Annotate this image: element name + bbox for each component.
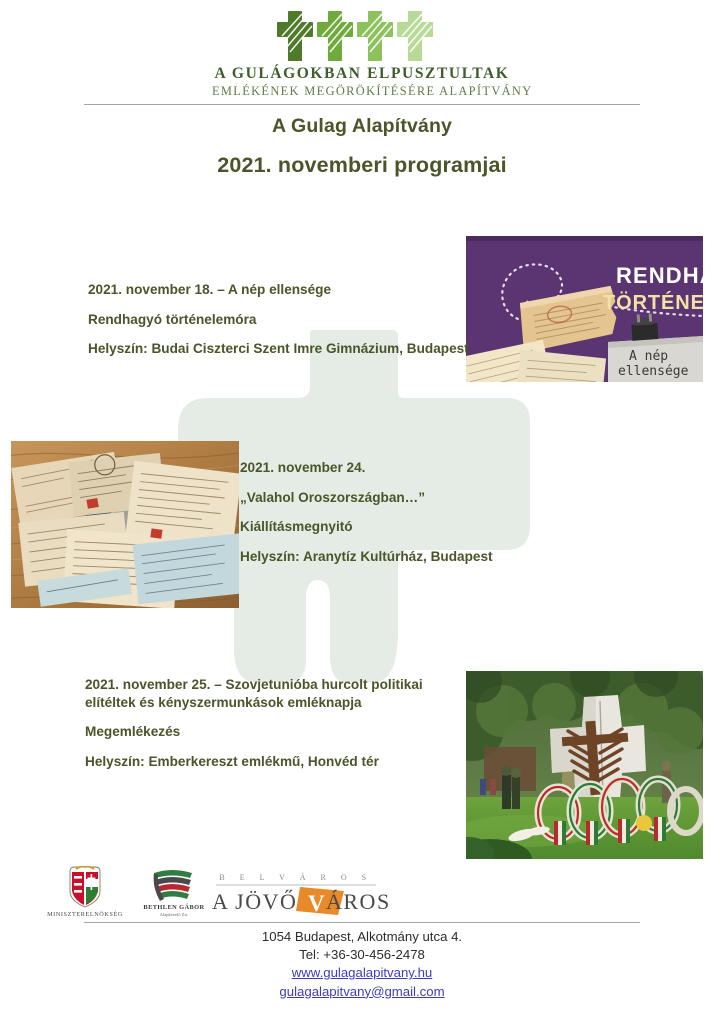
bethlen-gabor-caption: BETHLEN GÁBOR: [143, 903, 204, 911]
belvaros-caption-main: A JÖVŐ: [212, 889, 297, 914]
document-header: A GULÁGOKBAN ELPUSZTULTAK EMLÉKÉNEK MEGÖ…: [0, 0, 724, 104]
header-divider: [84, 104, 640, 105]
footer-website-link[interactable]: www.gulagalapitvany.hu: [292, 965, 433, 980]
event-3-program: Megemlékezés: [85, 723, 475, 741]
archival-letters-photo: [11, 441, 239, 608]
cross-figures-icon: [276, 8, 448, 64]
rendhagyo-tortenelemora-poster: A nép ellensége RENDHAGYÓ TÖRTÉNELEMÓRA: [466, 236, 703, 382]
event-1-venue: Helyszín: Budai Ciszterci Szent Imre Gim…: [88, 340, 470, 358]
event-2-program-title: „Valahol Oroszországban…”: [240, 489, 560, 507]
belvaros-a-jovo-varosa-logo: B E L V Á R O S A JÖVŐ V ÁROSA: [204, 869, 388, 915]
page-title: A Gulag Alapítvány: [0, 115, 724, 138]
footer-phone: Tel: +36-30-456-2478: [0, 946, 724, 964]
footer-address: 1054 Budapest, Alkotmány utca 4.: [0, 928, 724, 946]
miniszterelnokseg-caption: MINISZTERELNÖKSÉG: [47, 910, 123, 918]
footer-divider: [84, 922, 640, 923]
emberkereszt-memorial-photo: [466, 671, 703, 859]
svg-text:ellensége: ellensége: [618, 364, 689, 379]
document-page: A GULÁGOKBAN ELPUSZTULTAK EMLÉKÉNEK MEGÖ…: [0, 0, 724, 1024]
foundation-logo: A GULÁGOKBAN ELPUSZTULTAK EMLÉKÉNEK MEGÖ…: [212, 8, 512, 99]
svg-text:A nép: A nép: [629, 349, 668, 364]
event-2-venue: Helyszín: Aranytíz Kultúrház, Budapest: [240, 548, 560, 566]
event-2-date: 2021. november 24.: [240, 459, 560, 477]
event-block-2: 2021. november 24. „Valahol Oroszországb…: [240, 459, 560, 565]
page-subtitle: 2021. novemberi programjai: [0, 153, 724, 178]
event-block-1: 2021. november 18. – A nép ellensége Ren…: [88, 281, 470, 358]
svg-text:RENDHAGYÓ: RENDHAGYÓ: [616, 263, 703, 288]
event-1-program: Rendhagyó történelemóra: [88, 311, 470, 329]
footer-contact: 1054 Budapest, Alkotmány utca 4. Tel: +3…: [0, 928, 724, 1001]
svg-text:ÁROSA: ÁROSA: [326, 889, 388, 914]
org-name-line2: EMLÉKÉNEK MEGÖRÖKÍTÉSÉRE ALAPÍTVÁNY: [212, 84, 512, 99]
footer-email-link[interactable]: gulagalapitvany@gmail.com: [279, 984, 444, 999]
event-block-3: 2021. november 25. – Szovjetunióba hurco…: [85, 676, 475, 770]
footer-logos: MINISZTERELNÖKSÉG BETHLEN GÁBOR Alapkeze…: [0, 866, 724, 918]
belvaros-caption-top: B E L V Á R O S: [219, 872, 372, 882]
svg-text:V: V: [308, 891, 325, 915]
event-1-date: 2021. november 18. – A nép ellensége: [88, 281, 470, 299]
svg-text:TÖRTÉNELEMÓRA: TÖRTÉNELEMÓRA: [603, 290, 703, 314]
org-name-line1: A GULÁGOKBAN ELPUSZTULTAK: [212, 65, 512, 83]
event-3-venue: Helyszín: Emberkereszt emlékmű, Honvéd t…: [85, 753, 475, 771]
event-2-program: Kiállításmegnyitó: [240, 518, 560, 536]
event-3-date: 2021. november 25. – Szovjetunióba hurco…: [85, 676, 475, 711]
bethlen-gabor-subcaption: Alapkezelő Zrt.: [160, 912, 189, 917]
